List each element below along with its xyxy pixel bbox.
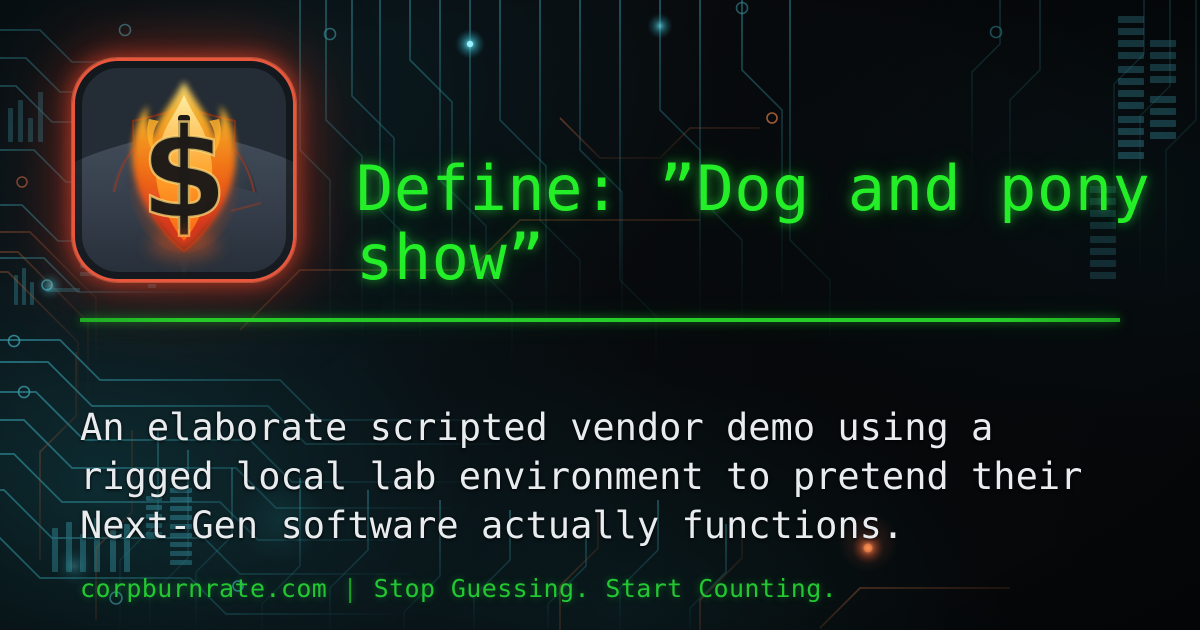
- footer-site-link[interactable]: corpburnrate.com: [80, 574, 327, 603]
- footer-separator: |: [327, 574, 373, 603]
- definition-body-text: An elaborate scripted vendor demo using …: [80, 403, 1140, 551]
- brand-logo: $ $: [72, 58, 296, 282]
- section-divider: [80, 318, 1120, 322]
- flaming-dollar-shield-icon: $ $: [75, 61, 293, 279]
- page-title: Define: ”Dog and pony show”: [356, 154, 1156, 293]
- footer-tagline: Stop Guessing. Start Counting.: [374, 574, 838, 603]
- footer-bar: corpburnrate.com | Stop Guessing. Start …: [80, 574, 837, 603]
- svg-text:$: $: [140, 100, 228, 247]
- definition-card: $ $ Define: ”Dog and pony show” An elabo…: [0, 0, 1200, 630]
